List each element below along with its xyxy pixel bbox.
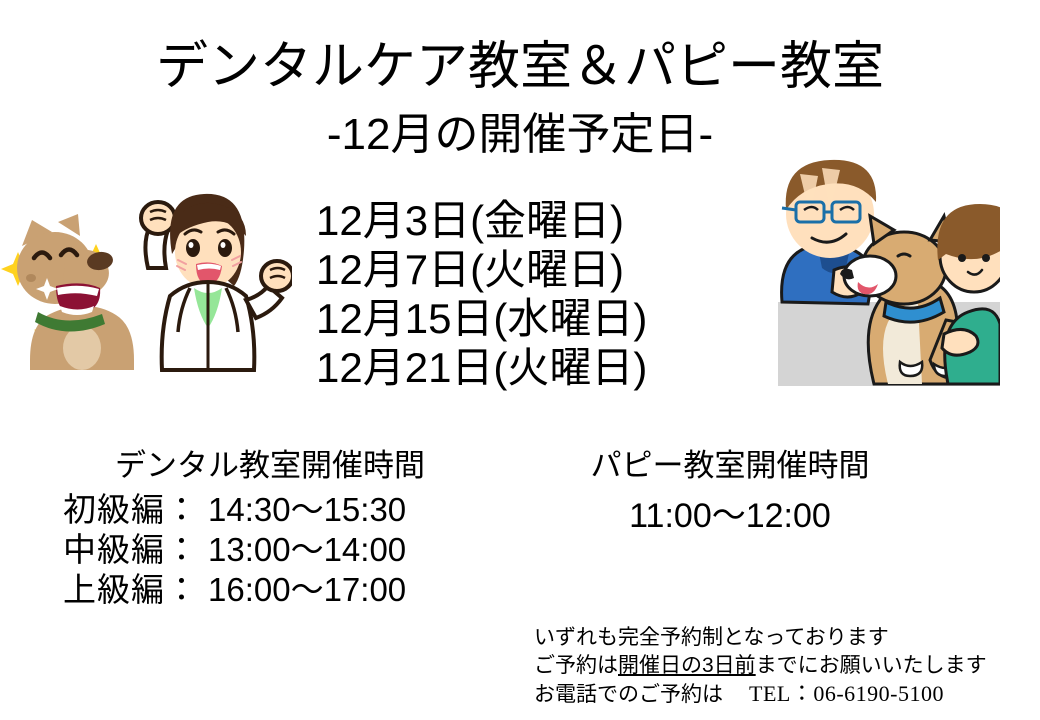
schedule-row: 初級編： 14:30〜15:30 xyxy=(40,490,500,530)
level-label: 中級編： xyxy=(40,530,208,570)
dental-schedule-heading: デンタル教室開催時間 xyxy=(40,446,500,486)
note-suffix: までにお願いいたします xyxy=(756,654,987,677)
reservation-notes: いずれも完全予約制となっております ご予約は開催日の3日前までにお願いいたします… xyxy=(534,624,1034,709)
level-time: 13:00〜14:00 xyxy=(208,530,500,570)
schedule-row: 中級編： 13:00〜14:00 xyxy=(40,530,500,570)
level-label: 初級編： xyxy=(40,490,208,530)
dental-schedule-rows: 初級編： 14:30〜15:30 中級編： 13:00〜14:00 上級編： 1… xyxy=(40,490,500,610)
date-line: 12月3日(金曜日) xyxy=(316,196,736,245)
puppy-schedule-time: 11:00〜12:00 xyxy=(565,495,895,537)
date-line: 12月15日(水曜日) xyxy=(316,294,736,343)
note-underlined-deadline: 開催日の3日前 xyxy=(618,654,756,677)
note-phone-prefix: お電話でのご予約は xyxy=(534,683,723,706)
puppy-schedule-heading: パピー教室開催時間 xyxy=(565,446,895,486)
date-line: 12月21日(火曜日) xyxy=(316,343,736,392)
tooth-brushing-demo-illustration xyxy=(778,152,1000,386)
poster-canvas: デンタルケア教室＆パピー教室 ‐12月の開催予定日‐ xyxy=(0,0,1040,720)
happy-dog-and-vet-illustration xyxy=(0,160,292,410)
schedule-row: 上級編： 16:00〜17:00 xyxy=(40,570,500,610)
page-title: デンタルケア教室＆パピー教室 xyxy=(0,36,1040,98)
note-prefix: ご予約は xyxy=(534,654,618,677)
telephone-number[interactable]: TEL：06-6190-5100 xyxy=(749,681,944,706)
level-label: 上級編： xyxy=(40,570,208,610)
note-line-deadline: ご予約は開催日の3日前までにお願いいたします xyxy=(534,652,1034,680)
level-time: 14:30〜15:30 xyxy=(208,490,500,530)
date-line: 12月7日(火曜日) xyxy=(316,245,736,294)
puppy-class-schedule: パピー教室開催時間 11:00〜12:00 xyxy=(565,446,895,537)
note-line-phone: お電話でのご予約はTEL：06-6190-5100 xyxy=(534,680,1034,709)
level-time: 16:00〜17:00 xyxy=(208,570,500,610)
dental-class-schedule: デンタル教室開催時間 初級編： 14:30〜15:30 中級編： 13:00〜1… xyxy=(40,446,500,610)
note-line-reservation-required: いずれも完全予約制となっております xyxy=(534,624,1034,652)
class-date-list: 12月3日(金曜日) 12月7日(火曜日) 12月15日(水曜日) 12月21日… xyxy=(316,196,736,392)
